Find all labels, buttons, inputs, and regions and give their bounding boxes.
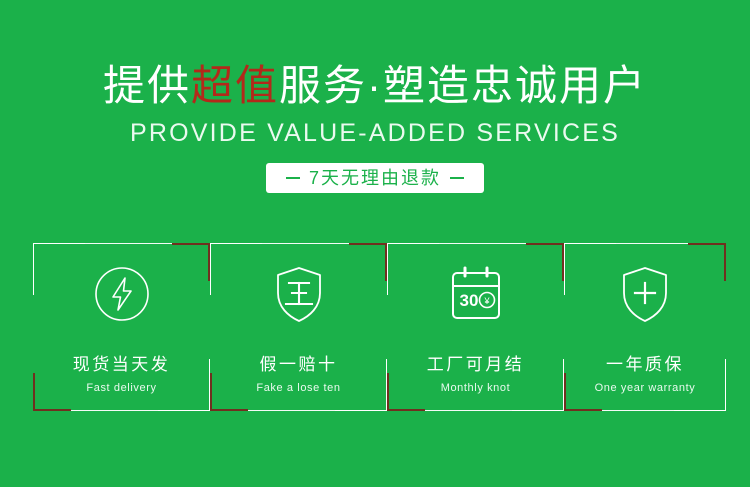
- feature-card-one-year-warranty: 一年质保 One year warranty: [564, 243, 726, 411]
- calendar-day-label: 30: [459, 291, 478, 310]
- feature-title-en: Fake a lose ten: [256, 382, 340, 395]
- feature-title-cn: 工厂可月结: [427, 355, 525, 375]
- title-highlight: 超值: [191, 62, 279, 109]
- svg-text:¥: ¥: [483, 296, 490, 306]
- shield-zheng-icon: [270, 263, 328, 325]
- page-title: 提供超值服务·塑造忠诚用户: [0, 62, 750, 110]
- badge-container: 7天无理由退款: [0, 163, 750, 193]
- title-suffix: 服务·塑造忠诚用户: [279, 62, 647, 109]
- feature-card-fast-delivery: 现货当天发 Fast delivery: [33, 243, 210, 411]
- refund-badge: 7天无理由退款: [266, 163, 484, 193]
- feature-card-fake-a-lose-ten: 假一赔十 Fake a lose ten: [210, 243, 387, 411]
- refund-badge-label: 7天无理由退款: [309, 163, 441, 193]
- dash-left-icon: [286, 177, 300, 179]
- feature-title-cn: 现货当天发: [73, 355, 171, 375]
- lightning-bolt-circle-icon: [92, 263, 152, 325]
- feature-title-cn: 假一赔十: [260, 355, 338, 375]
- feature-card-monthly-knot: 30 ¥ 工厂可月结 Monthly knot: [387, 243, 564, 411]
- title-prefix: 提供: [103, 62, 191, 109]
- dash-right-icon: [450, 177, 464, 179]
- feature-title-en: One year warranty: [595, 382, 696, 395]
- feature-title-cn: 一年质保: [606, 355, 684, 375]
- promo-banner: 提供超值服务·塑造忠诚用户 PROVIDE VALUE-ADDED SERVIC…: [0, 0, 750, 487]
- calendar-30-yuan-icon: 30 ¥: [445, 263, 507, 325]
- feature-title-en: Fast delivery: [86, 382, 156, 395]
- shield-plus-icon: [616, 263, 674, 325]
- feature-card-list: 现货当天发 Fast delivery: [33, 243, 720, 411]
- page-subtitle: PROVIDE VALUE-ADDED SERVICES: [0, 118, 750, 148]
- feature-title-en: Monthly knot: [441, 382, 511, 395]
